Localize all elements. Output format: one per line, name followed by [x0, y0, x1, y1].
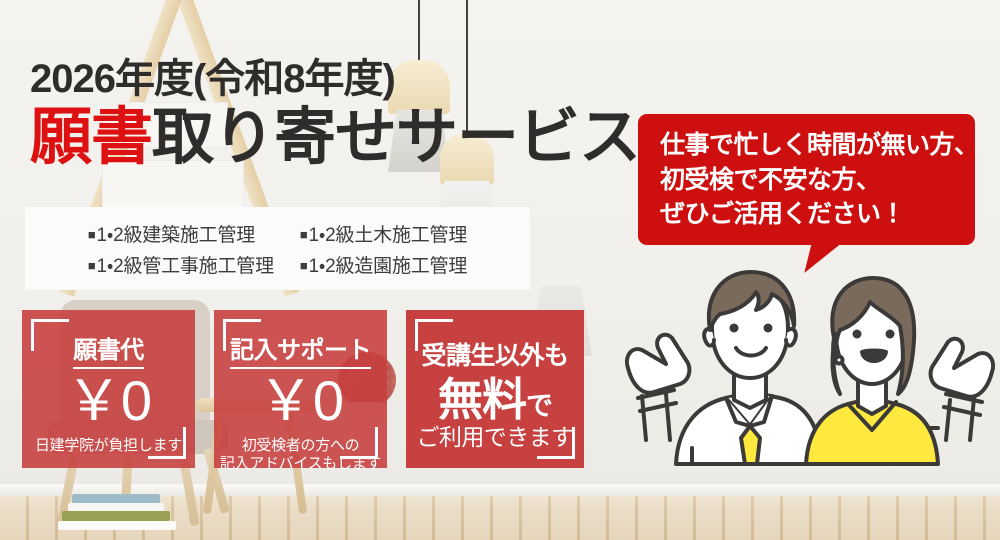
- course-list-panel: ■1・2級建築施工管理 ■1・2級土木施工管理 ■1・2級管工事施工管理 ■1・…: [25, 207, 530, 290]
- course-item: ■1・2級建築施工管理: [88, 220, 274, 247]
- feature-box-title: 願書代: [73, 330, 144, 369]
- feature-box-application-fee: 願書代 ￥0 日建学院が負担します: [22, 310, 195, 468]
- speech-bubble-line2: 初受検で不安な方、: [660, 163, 975, 198]
- woman-open-smile: [862, 351, 886, 362]
- speech-bubble-line1: 仕事で忙しく時間が無い方、: [660, 128, 975, 163]
- corner-bracket-icon: [31, 319, 69, 351]
- people-illustration: [620, 268, 1000, 496]
- headline-block: 2026年度(令和8年度) 願書取り寄せサービス: [30, 58, 640, 169]
- course-item-label: 1・2級土木施工管理: [309, 225, 468, 246]
- course-item-label: 1・2級管工事施工管理: [96, 256, 273, 277]
- feature-box-open-to-all: 受講生以外も 無料で ご利用できます: [406, 310, 584, 468]
- feature-box-note-line1: 初受検者の方への: [214, 437, 387, 455]
- feature-box-note: 初受検者の方への 記入アドバイスもします: [214, 437, 387, 473]
- feature-box-title: 受講生以外も: [421, 336, 568, 374]
- man-raised-hand-icon: [627, 335, 689, 440]
- square-bullet-icon: ■: [88, 258, 96, 273]
- headline-main: 願書取り寄せサービス: [30, 106, 640, 169]
- square-bullet-icon: ■: [300, 258, 308, 273]
- feature-box-highlight: 無料で: [406, 376, 584, 423]
- man-eye: [730, 324, 739, 333]
- headline-rest-word: 取り寄せサービス: [152, 103, 640, 172]
- feature-box-highlight-suffix: で: [526, 391, 552, 421]
- feature-box-highlight-word: 無料: [438, 374, 526, 425]
- feature-box-price: ￥0: [22, 373, 195, 429]
- speech-bubble: 仕事で忙しく時間が無い方、 初受検で不安な方、 ぜひご活用ください！: [638, 114, 975, 245]
- square-bullet-icon: ■: [300, 227, 308, 242]
- woman-eye: [853, 330, 862, 339]
- course-item: ■1・2級管工事施工管理: [88, 251, 274, 278]
- course-item: ■1・2級造園施工管理: [300, 251, 467, 278]
- book-stack-decoration: [58, 494, 176, 530]
- woman-eye: [886, 330, 895, 339]
- course-item: ■1・2級土木施工管理: [300, 220, 467, 247]
- course-item-label: 1・2級建築施工管理: [96, 225, 255, 246]
- promotional-banner: 2026年度(令和8年度) 願書取り寄せサービス ■1・2級建築施工管理 ■1・…: [0, 0, 1000, 540]
- feature-box-entry-support: 記入サポート ￥0 初受検者の方への 記入アドバイスもします: [214, 310, 387, 468]
- headline-year: 2026年度(令和8年度): [30, 58, 640, 100]
- course-item-label: 1・2級造園施工管理: [309, 256, 468, 277]
- headline-accent-word: 願書: [30, 103, 152, 172]
- woman-earring-icon: [836, 357, 843, 364]
- speech-bubble-line3: ぜひご活用ください！: [660, 197, 975, 232]
- feature-box-note: ご利用できます: [406, 424, 584, 452]
- feature-box-note: 日建学院が負担します: [22, 437, 195, 455]
- feature-box-title: 記入サポート: [230, 330, 371, 369]
- feature-box-price: ￥0: [214, 373, 387, 429]
- man-necktie: [741, 426, 760, 464]
- man-eye: [764, 324, 773, 333]
- woman-raised-hand-icon: [931, 339, 993, 440]
- feature-box-note-line2: 記入アドバイスもします: [214, 455, 387, 473]
- square-bullet-icon: ■: [88, 227, 96, 242]
